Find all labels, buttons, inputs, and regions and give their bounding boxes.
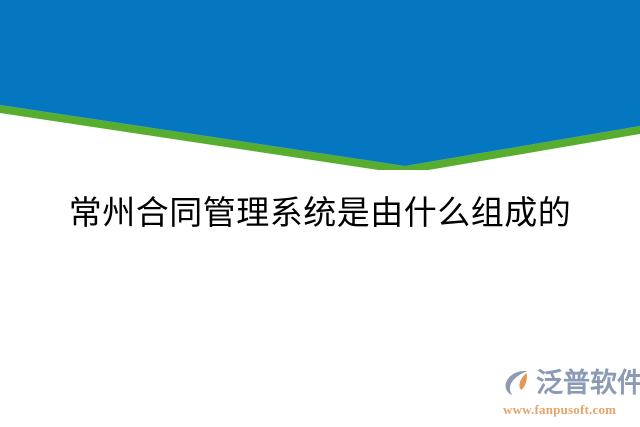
brand-url: www.fanpusoft.com — [503, 402, 637, 417]
banner-blue-body — [0, 0, 640, 166]
fanpu-swoosh-icon — [503, 368, 533, 398]
page-title: 常州合同管理系统是由什么组成的 — [0, 192, 640, 236]
header-banner — [0, 0, 640, 170]
slide-canvas: 常州合同管理系统是由什么组成的 泛普软件 www.fanpusoft.com — [0, 0, 640, 427]
brand-name: 泛普软件 — [536, 368, 640, 398]
brand-logo: 泛普软件 www.fanpusoft.com — [503, 365, 637, 421]
header-banner-shape — [0, 0, 640, 170]
brand-logo-row: 泛普软件 — [503, 365, 637, 401]
